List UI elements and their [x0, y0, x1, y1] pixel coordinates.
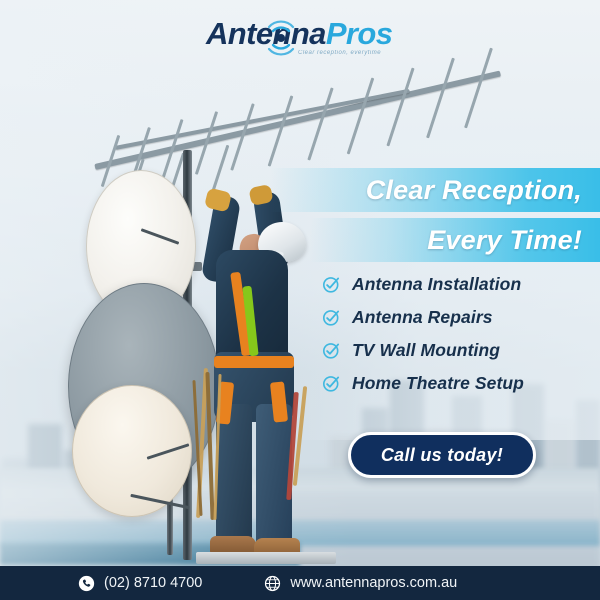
- services-list: Antenna Installation Antenna Repairs TV …: [322, 274, 584, 406]
- list-item: TV Wall Mounting: [322, 340, 584, 361]
- service-label: Antenna Installation: [352, 274, 521, 295]
- signal-wave-icon: [262, 14, 300, 58]
- worker-leg-left: [216, 404, 252, 544]
- phone-icon: [78, 575, 95, 592]
- logo-tagline: Clear reception, everytime: [298, 50, 381, 56]
- call-us-today-button[interactable]: Call us today!: [348, 432, 536, 478]
- check-circle-icon: [322, 341, 341, 360]
- headline-band-1: Clear Reception,: [270, 168, 600, 212]
- website-url: www.antennapros.com.au: [290, 575, 457, 591]
- list-item: Home Theatre Setup: [322, 373, 584, 394]
- website-contact[interactable]: www.antennapros.com.au: [264, 575, 457, 592]
- service-label: Antenna Repairs: [352, 307, 493, 328]
- service-label: Home Theatre Setup: [352, 373, 524, 394]
- check-circle-icon: [322, 275, 341, 294]
- headline-line-2: Every Time!: [427, 225, 582, 256]
- check-circle-icon: [322, 374, 341, 393]
- headline-line-1: Clear Reception,: [366, 175, 582, 206]
- list-item: Antenna Installation: [322, 274, 584, 295]
- list-item: Antenna Repairs: [322, 307, 584, 328]
- check-circle-icon: [322, 308, 341, 327]
- globe-icon: [264, 575, 281, 592]
- phone-contact[interactable]: (02) 8710 4700: [78, 575, 202, 592]
- safety-harness-belt: [214, 356, 294, 368]
- advertisement-banner: AntennaPros Clear reception, everytime C…: [0, 0, 600, 600]
- rooftop-plank: [196, 552, 336, 564]
- contact-footer-bar: (02) 8710 4700 www.antennapros.com.au: [0, 566, 600, 600]
- phone-number: (02) 8710 4700: [104, 575, 202, 591]
- cta-label: Call us today!: [381, 445, 503, 466]
- logo-accent-text: Pros: [326, 16, 393, 51]
- brand-logo: AntennaPros Clear reception, everytime: [206, 16, 394, 64]
- service-label: TV Wall Mounting: [352, 340, 500, 361]
- worker-leg-right: [256, 404, 292, 546]
- headline-band-2: Every Time!: [310, 218, 600, 262]
